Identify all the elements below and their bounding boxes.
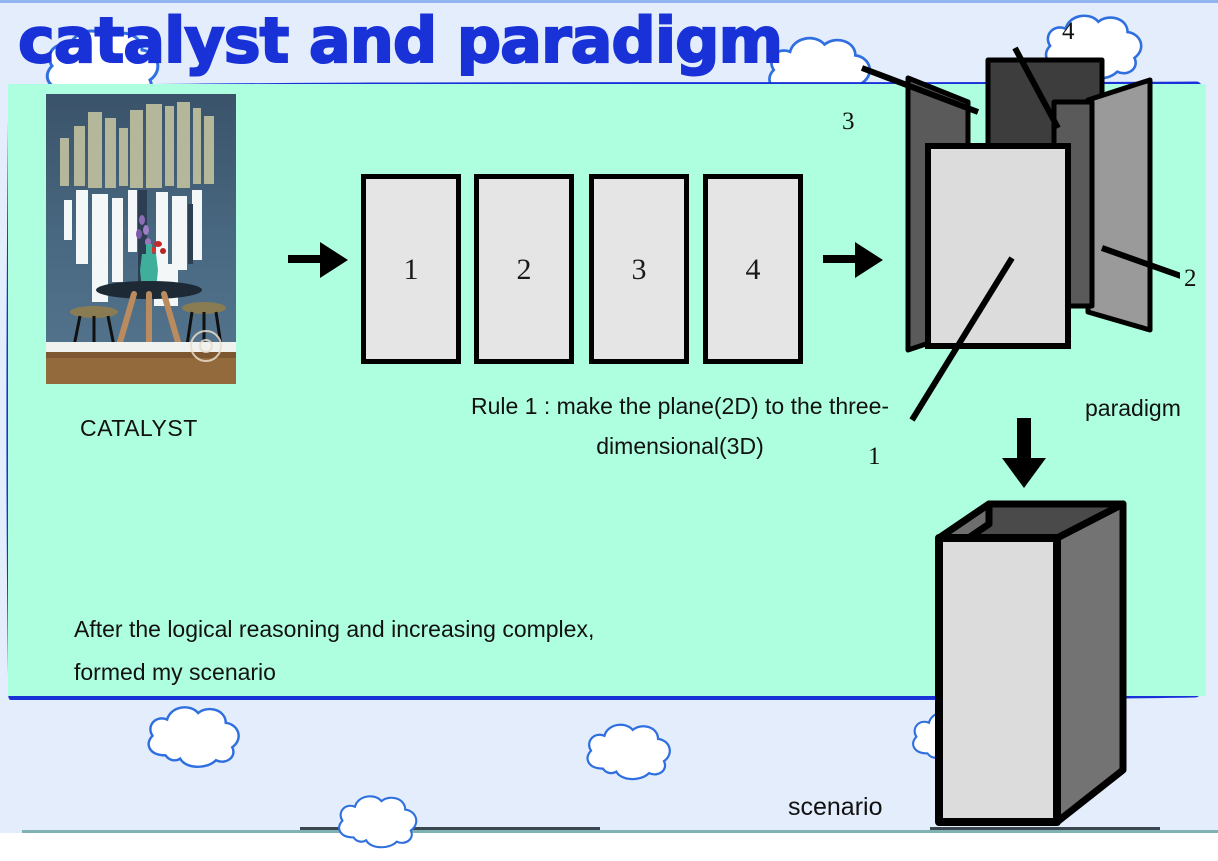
plane-rect-label: 2 [479, 253, 569, 287]
catalyst-photo [46, 94, 236, 384]
plane-rect-1[interactable]: 1 [361, 174, 461, 364]
cloud-icon [332, 790, 424, 850]
paradigm-leader-label-4: 4 [1062, 18, 1075, 46]
cloud-icon [140, 700, 248, 770]
paradigm-diagram[interactable] [840, 0, 1180, 440]
arrow-right-icon [288, 238, 350, 287]
plane-rect-4[interactable]: 4 [703, 174, 803, 364]
plane-rect-label: 1 [366, 253, 456, 287]
scenario-box[interactable] [925, 480, 1155, 850]
paradigm-plane-1 [928, 146, 1068, 346]
paradigm-leader-label-1: 1 [868, 443, 881, 471]
catalyst-label: CATALYST [80, 415, 198, 442]
cloud-icon [580, 718, 678, 782]
paradigm-leader-label-2: 2 [1184, 265, 1197, 293]
plane-rect-label: 3 [594, 253, 684, 287]
page-title: catalyst and paradigm [18, 6, 782, 76]
paradigm-plane-2 [1088, 80, 1150, 330]
slide-canvas: catalyst and paradigm [0, 0, 1218, 861]
paradigm-label: paradigm [1085, 395, 1181, 422]
plane-rect-label: 4 [708, 253, 798, 287]
plane-rect-2[interactable]: 2 [474, 174, 574, 364]
scenario-face-right [1057, 504, 1123, 822]
scenario-label: scenario [788, 793, 883, 822]
paradigm-leader-label-3: 3 [842, 108, 855, 136]
conclusion-text: After the logical reasoning and increasi… [74, 608, 594, 694]
scenario-face-front [939, 538, 1057, 822]
plane-rect-3[interactable]: 3 [589, 174, 689, 364]
